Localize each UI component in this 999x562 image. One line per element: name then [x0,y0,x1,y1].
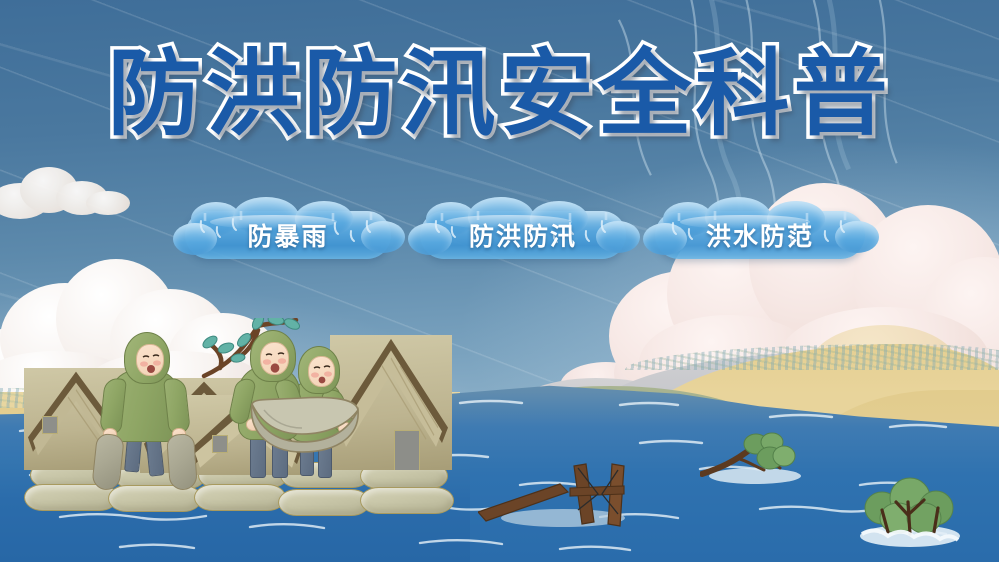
house-door [394,430,420,470]
pill-lobe [361,221,405,253]
pill-lobe [835,221,879,253]
floating-branch-icon [700,432,806,488]
sandbag-carried-right [166,433,198,491]
house-window [212,435,228,453]
page-title: 防洪防汛安全科普 [107,48,891,142]
sandbag [194,484,286,511]
tag-label: 防洪防汛 [469,217,577,253]
worker-left [100,332,195,487]
tag-label: 洪水防范 [706,217,814,253]
sandbag-carried-left [91,433,125,492]
sandbag [360,487,454,514]
face-features-icon [260,342,289,375]
pill-lobe [408,223,452,255]
sandbag-carried-shared [244,396,364,458]
submerged-utility-pole-icon [478,448,648,530]
pill-lobe [173,223,217,255]
tag-flood-control[interactable]: 防洪防汛 [420,211,626,259]
tag-rainstorm[interactable]: 防暴雨 [185,211,391,259]
tag-label: 防暴雨 [247,217,328,253]
title-block: 防洪防汛安全科普 [0,48,999,142]
sandbag [278,489,370,516]
submerged-tree-icon [852,472,968,548]
flood-safety-poster: 防洪防汛安全科普 防暴雨 [0,0,999,562]
face-features-icon [136,344,164,376]
tag-flood-prevention[interactable]: 洪水防范 [655,211,865,259]
pill-lobe [643,223,687,255]
pill-lobe [596,221,640,253]
house-window [42,416,58,434]
